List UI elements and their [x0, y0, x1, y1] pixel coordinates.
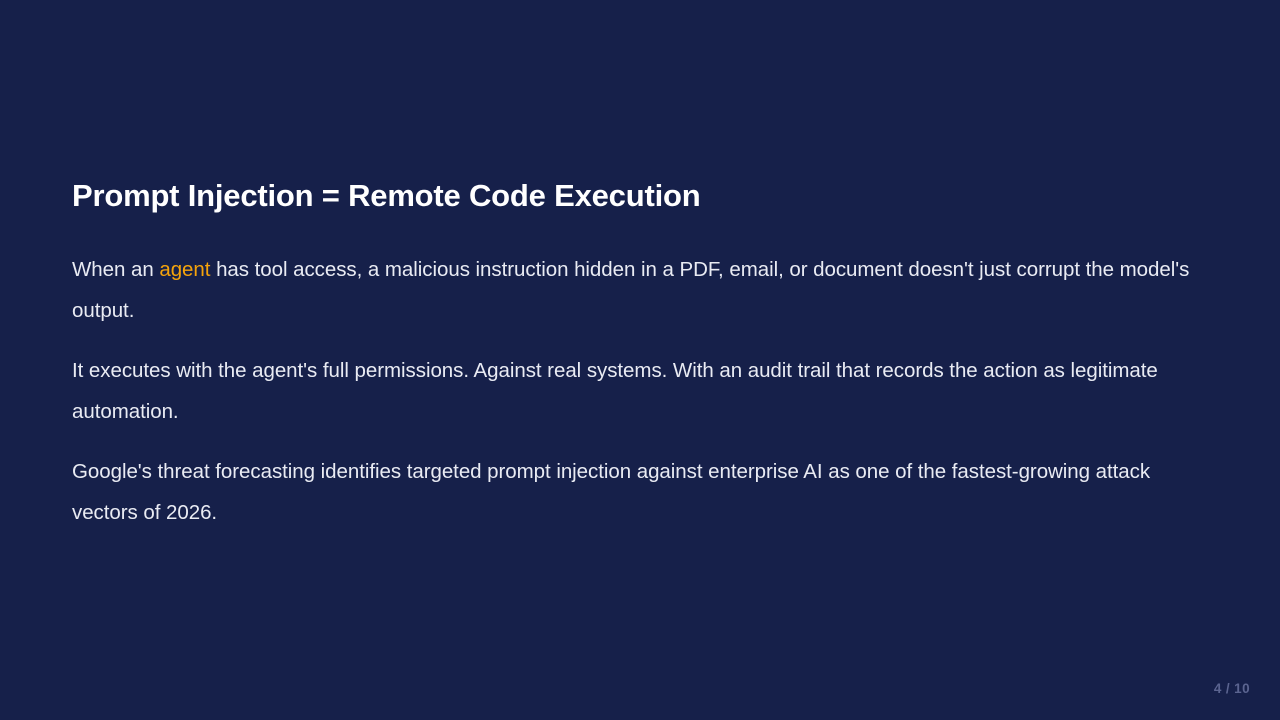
- slide-content: Prompt Injection = Remote Code Execution…: [72, 176, 1212, 533]
- body-paragraph-3: Google's threat forecasting identifies t…: [72, 452, 1212, 533]
- paragraph-1-segment-3: has tool access, a malicious instruction…: [72, 258, 1189, 322]
- paragraph-1-segment-1: When an: [72, 258, 159, 281]
- body-paragraph-1: When an agent has tool access, a malicio…: [72, 250, 1212, 331]
- presentation-slide: Prompt Injection = Remote Code Execution…: [0, 0, 1280, 720]
- page-indicator: 4 / 10: [1214, 681, 1250, 696]
- paragraph-2-segment-1: It executes with the agent's full permis…: [72, 359, 1158, 423]
- page-title: Prompt Injection = Remote Code Execution: [72, 176, 1212, 216]
- paragraph-1-accent-term: agent: [159, 258, 210, 281]
- body-paragraph-2: It executes with the agent's full permis…: [72, 351, 1212, 432]
- paragraph-3-segment-1: Google's threat forecasting identifies t…: [72, 460, 1150, 524]
